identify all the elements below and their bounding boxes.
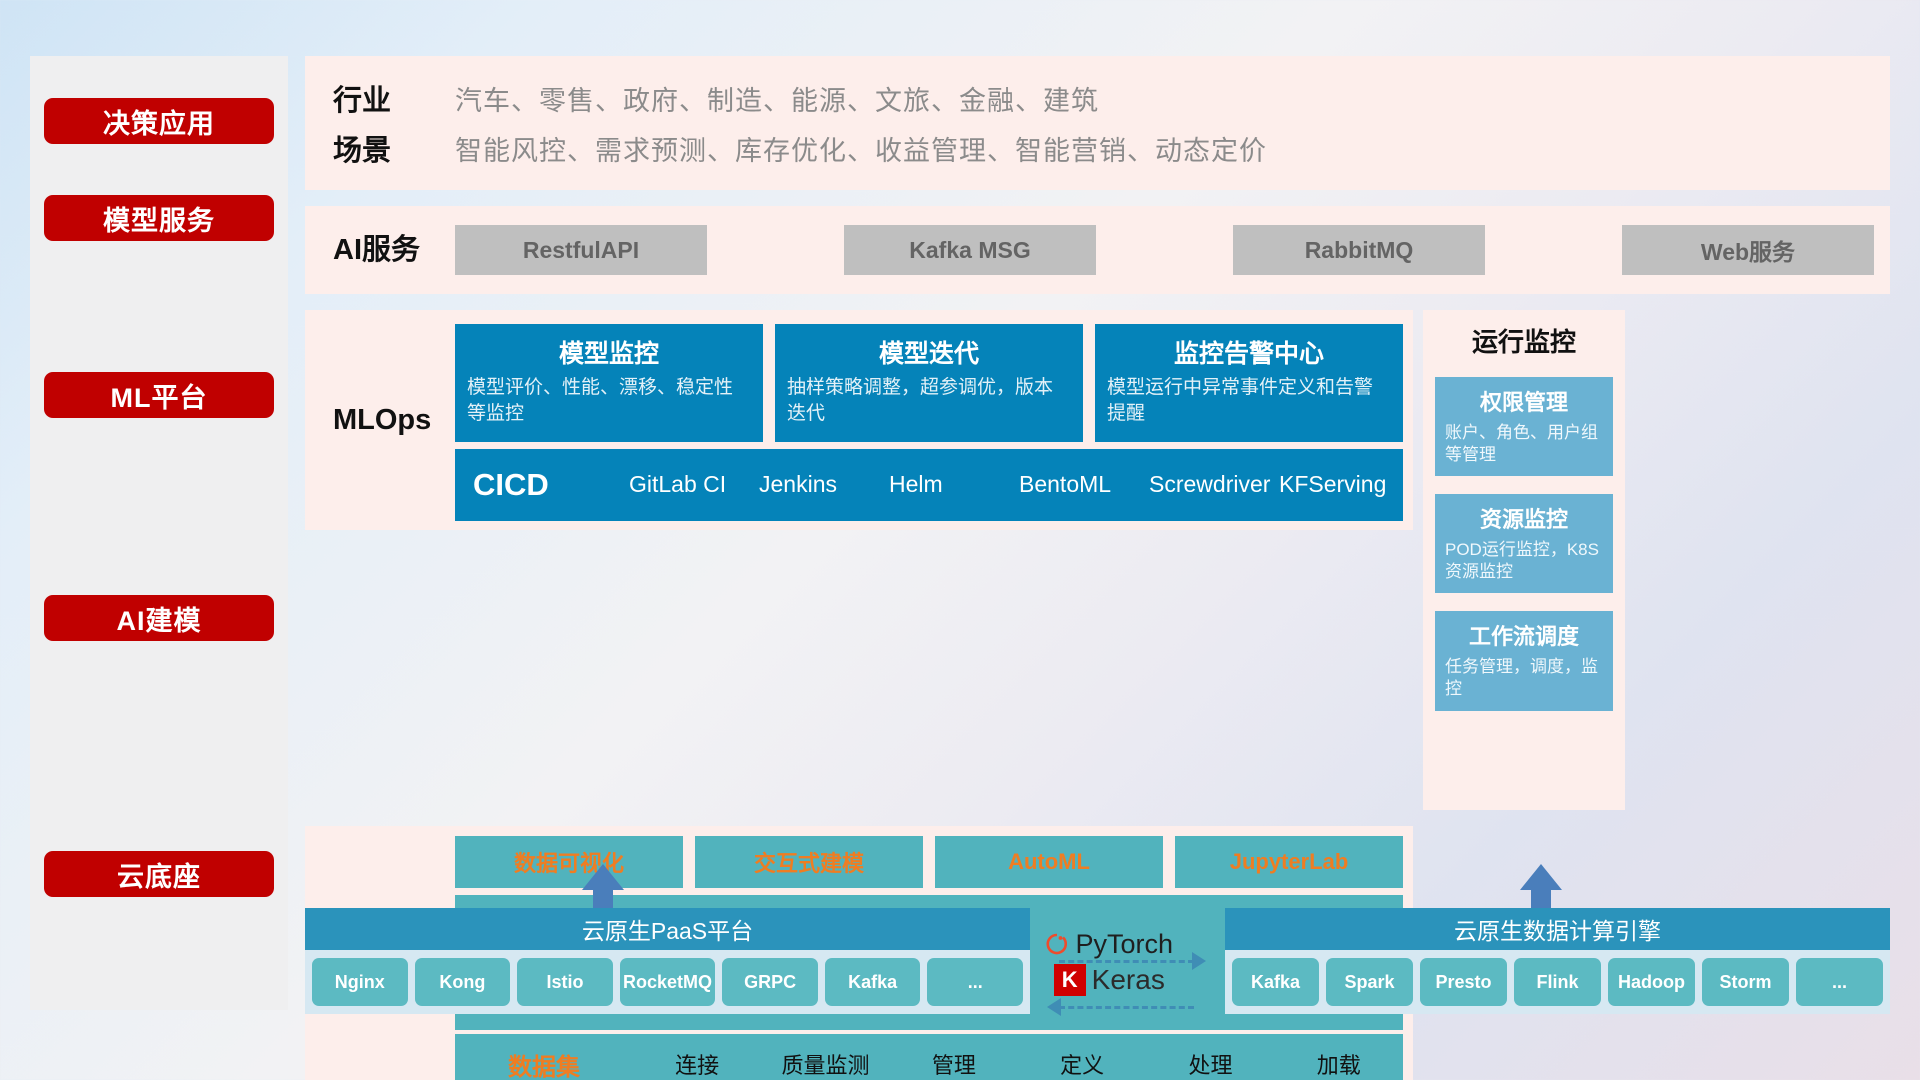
cicd-item-screwdriver[interactable]: Screwdriver [1143,472,1273,497]
monitor-card-workflow[interactable]: 工作流调度 任务管理，调度，监控 [1435,611,1613,710]
service-kafka-msg[interactable]: Kafka MSG [844,225,1096,275]
ai-service-items: RestfulAPI Kafka MSG RabbitMQ Web服务 [455,225,1890,275]
chip-kafka[interactable]: Kafka [825,958,921,1006]
service-restful-api[interactable]: RestfulAPI [455,225,707,275]
rail-label: 云底座 [117,855,201,894]
paas-chips: Nginx Kong Istio RocketMQ GRPC Kafka ... [305,950,1030,1014]
dataset-item-manage[interactable]: 管理 [890,1048,1018,1080]
chip-more-paas[interactable]: ... [927,958,1023,1006]
rail-item-decision-app[interactable]: 决策应用 [44,98,274,144]
dashed-arrow-right-line [1059,960,1194,963]
cicd-items: GitLab CI Jenkins Helm BentoML Screwdriv… [623,472,1403,497]
mlops-card-model-monitor[interactable]: 模型监控 模型评价、性能、漂移、稳定性等监控 [455,324,763,442]
cicd-item-gitlab-ci[interactable]: GitLab CI [623,472,753,497]
card-title: 模型迭代 [787,334,1071,370]
arrow-up-paas-head [582,864,624,890]
rail-item-ml-platform[interactable]: ML平台 [44,372,274,418]
arrow-up-engine-head [1520,864,1562,890]
card-desc: 模型评价、性能、漂移、稳定性等监控 [467,375,751,426]
dataset-bar: 数据集 连接 质量监测 管理 定义 处理 加载 [455,1034,1403,1080]
engine-title: 云原生数据计算引擎 [1225,908,1890,950]
rail-label: AI建模 [117,599,202,638]
architecture-diagram: 决策应用 模型服务 ML平台 AI建模 云底座 行业 场景 汽车、零售、政府、制… [0,0,1920,1080]
card-title: 资源监控 [1445,502,1603,534]
dataset-item-quality-check[interactable]: 质量监测 [761,1048,889,1080]
rail-item-cloud-base[interactable]: 云底座 [44,851,274,897]
scenario-value: 智能风控、需求预测、库存优化、收益管理、智能营销、动态定价 [455,123,1267,173]
industry-value: 汽车、零售、政府、制造、能源、文旅、金融、建筑 [455,73,1267,123]
dataset-item-process[interactable]: 处理 [1146,1048,1274,1080]
cicd-bar: CICD GitLab CI Jenkins Helm BentoML Scre… [455,449,1403,521]
rail-item-ai-modeling[interactable]: AI建模 [44,595,274,641]
ai-service-band: AI服务 RestfulAPI Kafka MSG RabbitMQ Web服务 [305,206,1890,294]
chip-istio[interactable]: Istio [517,958,613,1006]
card-title: 权限管理 [1445,385,1603,417]
spacer [305,190,1890,206]
dashed-arrow-right-head [1192,952,1206,970]
chip-flink[interactable]: Flink [1514,958,1601,1006]
layer-rail: 决策应用 模型服务 ML平台 AI建模 云底座 [30,56,288,1010]
chip-spark[interactable]: Spark [1326,958,1413,1006]
cloud-foundation: 云原生PaaS平台 Nginx Kong Istio RocketMQ GRPC… [305,880,1890,1040]
chip-kong[interactable]: Kong [415,958,511,1006]
card-title: 工作流调度 [1445,619,1603,651]
rail-label: 模型服务 [103,199,215,238]
chip-nginx[interactable]: Nginx [312,958,408,1006]
chip-presto[interactable]: Presto [1420,958,1507,1006]
cicd-item-kfserving[interactable]: KFServing [1273,472,1403,497]
service-rabbitmq[interactable]: RabbitMQ [1233,225,1485,275]
mlops-card-model-iteration[interactable]: 模型迭代 抽样策略调整，超参调优，版本迭代 [775,324,1083,442]
run-monitor-panel: 运行监控 权限管理 账户、角色、用户组等管理 资源监控 POD运行监控，K8S资… [1423,310,1625,810]
engine-chips: Kafka Spark Presto Flink Hadoop Storm ..… [1225,950,1890,1014]
industry-scenario-values: 汽车、零售、政府、制造、能源、文旅、金融、建筑 智能风控、需求预测、库存优化、收… [455,73,1267,173]
cicd-item-helm[interactable]: Helm [883,472,1013,497]
engine-group: 云原生数据计算引擎 Kafka Spark Presto Flink Hadoo… [1225,908,1890,1014]
dashed-arrow-left-head [1047,998,1061,1016]
mlops-label: MLOps [333,324,455,438]
chip-hadoop[interactable]: Hadoop [1608,958,1695,1006]
industry-key: 行业 [333,73,433,123]
chip-more-engine[interactable]: ... [1796,958,1883,1006]
paas-title: 云原生PaaS平台 [305,908,1030,950]
industry-scenario-keys: 行业 场景 [333,73,433,173]
mlops-band: MLOps 模型监控 模型评价、性能、漂移、稳定性等监控 模型迭代 抽样策略调整… [305,310,1413,530]
card-desc: 任务管理，调度，监控 [1445,656,1603,700]
card-desc: 账户、角色、用户组等管理 [1445,422,1603,466]
monitor-card-permission[interactable]: 权限管理 账户、角色、用户组等管理 [1435,377,1613,476]
cicd-item-jenkins[interactable]: Jenkins [753,472,883,497]
service-web[interactable]: Web服务 [1622,225,1874,275]
mlops-cards: 模型监控 模型评价、性能、漂移、稳定性等监控 模型迭代 抽样策略调整，超参调优，… [455,324,1403,442]
card-title: 监控告警中心 [1107,334,1391,370]
dataset-label: 数据集 [455,1047,633,1080]
dashed-arrow-left-line [1059,1006,1194,1009]
cicd-item-bentoml[interactable]: BentoML [1013,472,1143,497]
card-desc: 模型运行中异常事件定义和告警提醒 [1107,375,1391,426]
mlops-content: 模型监控 模型评价、性能、漂移、稳定性等监控 模型迭代 抽样策略调整，超参调优，… [455,324,1413,521]
mlops-card-alert-center[interactable]: 监控告警中心 模型运行中异常事件定义和告警提醒 [1095,324,1403,442]
chip-rocketmq[interactable]: RocketMQ [620,958,716,1006]
card-desc: POD运行监控，K8S资源监控 [1445,539,1603,583]
dataset-item-connect[interactable]: 连接 [633,1048,761,1080]
card-title: 模型监控 [467,334,751,370]
monitor-card-resource[interactable]: 资源监控 POD运行监控，K8S资源监控 [1435,494,1613,593]
run-monitor-title: 运行监控 [1435,322,1613,359]
spacer [305,294,1890,310]
industry-scenario-band: 行业 场景 汽车、零售、政府、制造、能源、文旅、金融、建筑 智能风控、需求预测、… [305,56,1890,190]
ai-service-label: AI服务 [333,232,455,268]
chip-storm[interactable]: Storm [1702,958,1789,1006]
paas-group: 云原生PaaS平台 Nginx Kong Istio RocketMQ GRPC… [305,908,1030,1014]
dataset-item-load[interactable]: 加载 [1275,1048,1403,1080]
dataset-item-define[interactable]: 定义 [1018,1048,1146,1080]
chip-kafka-engine[interactable]: Kafka [1232,958,1319,1006]
dataset-items: 连接 质量监测 管理 定义 处理 加载 [633,1048,1403,1080]
rail-label: 决策应用 [103,102,215,141]
rail-label: ML平台 [111,376,208,415]
chip-grpc[interactable]: GRPC [722,958,818,1006]
scenario-key: 场景 [333,123,433,173]
mlops-and-monitor-row: MLOps 模型监控 模型评价、性能、漂移、稳定性等监控 模型迭代 抽样策略调整… [305,310,1890,810]
rail-item-model-service[interactable]: 模型服务 [44,195,274,241]
cicd-title: CICD [473,467,623,503]
card-desc: 抽样策略调整，超参调优，版本迭代 [787,375,1071,426]
